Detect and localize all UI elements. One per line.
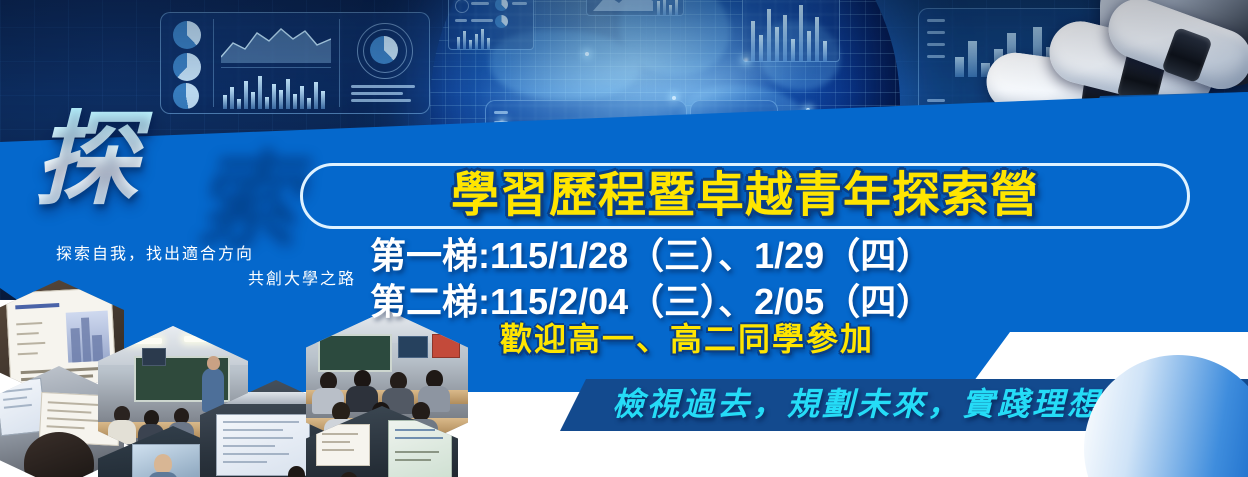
- main-title-pill: 學習歷程暨卓越青年探索營: [300, 163, 1190, 229]
- session-1-text: 第一梯:115/1/28（三）、1/29（四）: [370, 238, 932, 274]
- subtitle-line-1: 探索自我，找出適合方向: [56, 243, 356, 268]
- subtitle-line-2: 共創大學之路: [56, 268, 356, 293]
- brand-char-2: 索: [194, 144, 302, 248]
- brand-char-1: 探: [34, 102, 142, 218]
- brand-title: 探索: [34, 108, 250, 212]
- page-title: 學習歷程暨卓越青年探索營: [451, 172, 1039, 220]
- promotional-banner: 探索 探索自我，找出適合方向 共創大學之路 學習歷程暨卓越青年探索營 第一梯:1…: [0, 0, 1248, 477]
- subtitle-block: 探索自我，找出適合方向 共創大學之路: [56, 243, 356, 293]
- session-2-text: 第二梯:115/2/04（三）、2/05（四）: [370, 284, 932, 320]
- audience-note: 歡迎高一、高二同學參加: [500, 323, 874, 355]
- slogan-text: 檢視過去，規劃未來，實踐理想: [612, 388, 1102, 420]
